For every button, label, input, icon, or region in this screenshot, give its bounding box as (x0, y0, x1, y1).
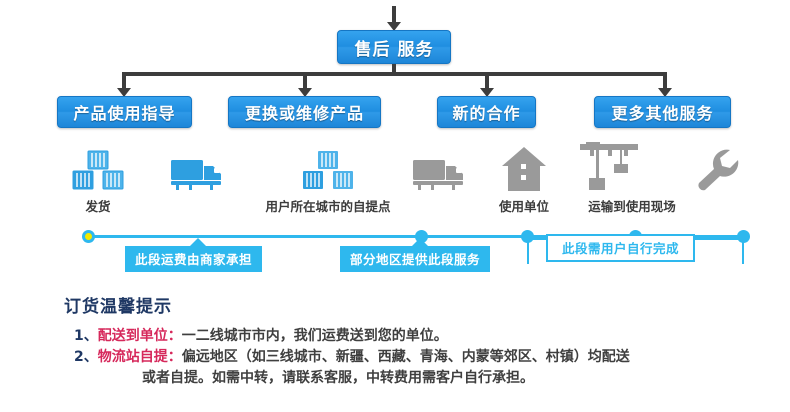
notes-section: 订货温馨提示 1、 配送到单位： 一二线城市市内，我们运费送到您的单位。 2、 … (64, 292, 630, 389)
icon-caption-use-unit: 使用单位 (487, 196, 561, 215)
timeline-notch-1 (190, 238, 206, 246)
timeline-label-partial-regions: 部分地区提供此段服务 (340, 246, 490, 272)
icon-caption-shipping: 发货 (58, 196, 138, 215)
note-keyword: 配送到单位： (98, 326, 182, 347)
flowchart-node-more-services[interactable]: 更多其他服务 (594, 96, 731, 128)
flowchart-root-node[interactable]: 售后 服务 (337, 30, 451, 64)
note-text: 一二线城市市内，我们运费送到您的单位。 (182, 326, 448, 347)
timeline-dot-start (82, 230, 95, 243)
truck-icon (412, 155, 468, 193)
note-number: 1、 (74, 326, 98, 347)
icon-caption-pickup-point: 用户所在城市的自提点 (253, 196, 403, 215)
containers-icon (70, 150, 126, 192)
notes-title: 订货温馨提示 (64, 292, 630, 317)
flowchart-node-new-cooperation[interactable]: 新的合作 (437, 96, 536, 128)
note-text: 偏远地区（如三线城市、新疆、西藏、青海、内蒙等郊区、村镇）均配送 (182, 347, 630, 368)
timeline-label-self-complete: 此段需用户自行完成 (546, 234, 695, 262)
note-keyword: 物流站自提： (98, 347, 182, 368)
truck-icon (170, 155, 226, 193)
flowchart-node-label: 更换或维修产品 (245, 100, 364, 124)
after-sales-service-infographic: 售后 服务 产品使用指导 更换或维修产品 新的合作 更多其他服务 (0, 0, 790, 412)
note-item-2-continuation: 或者自提。如需中转，请联系客服，中转费用需客户自行承担。 (142, 368, 630, 389)
crane-icon (578, 142, 642, 192)
house-icon (500, 146, 548, 192)
icon-caption-transport-to-site: 运输到使用现场 (572, 196, 692, 215)
flowchart-horizontal-bus (122, 72, 667, 76)
note-item-1: 1、 配送到单位： 一二线城市市内，我们运费送到您的单位。 (74, 326, 630, 347)
containers-icon (300, 150, 356, 192)
flowchart-node-label: 新的合作 (452, 100, 520, 124)
flowchart-root-label: 售后 服务 (355, 35, 434, 60)
note-item-2: 2、 物流站自提： 偏远地区（如三线城市、新疆、西藏、青海、内蒙等郊区、村镇）均… (74, 347, 630, 368)
flowchart-node-replace-repair[interactable]: 更换或维修产品 (228, 96, 381, 128)
wrench-icon (694, 148, 742, 194)
note-number: 2、 (74, 347, 98, 368)
flowchart-node-product-guide[interactable]: 产品使用指导 (57, 96, 192, 128)
flowchart-node-label: 产品使用指导 (73, 100, 175, 124)
flowchart-node-label: 更多其他服务 (611, 100, 713, 124)
timeline-label-merchant-pays: 此段运费由商家承担 (125, 246, 262, 272)
timeline-notch-2 (412, 238, 428, 246)
